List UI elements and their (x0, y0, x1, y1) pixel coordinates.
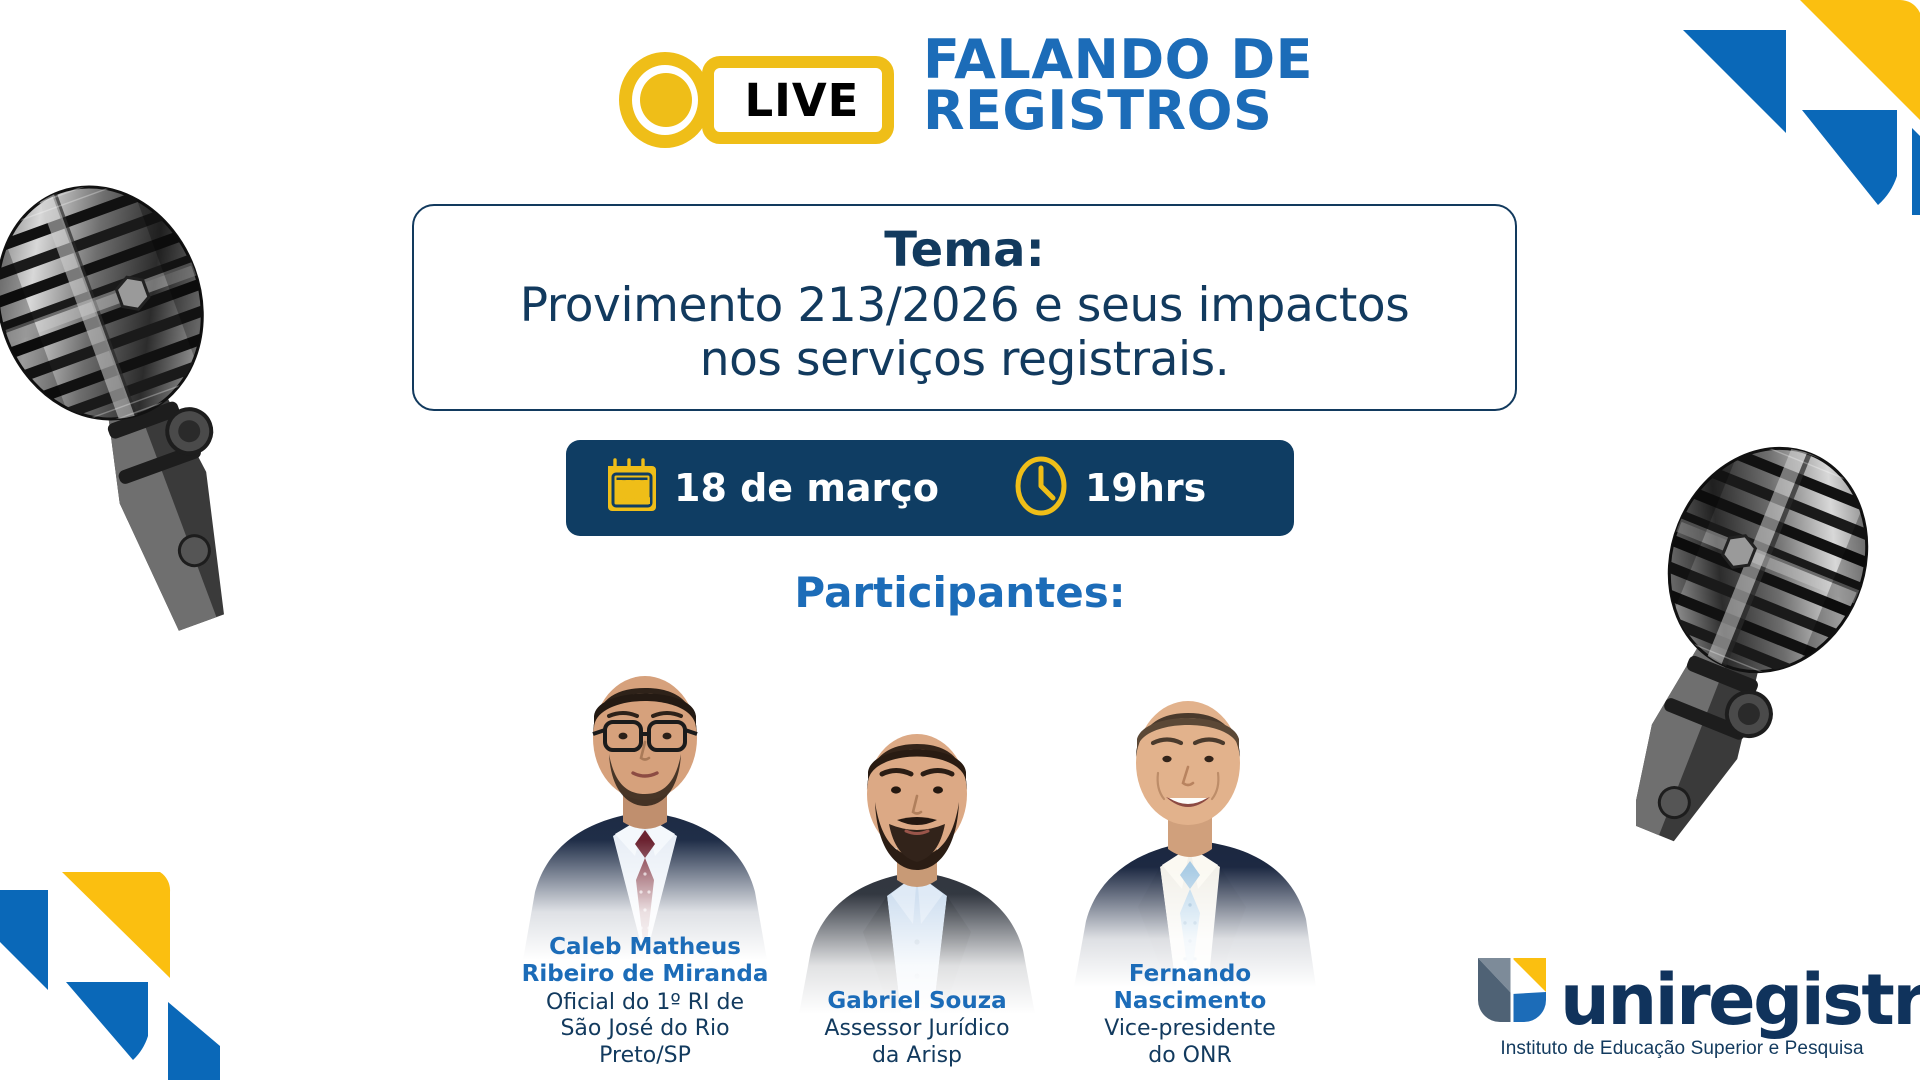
participants-list: Caleb Matheus Ribeiro de Miranda Oficial… (495, 615, 1365, 1070)
event-date-group: 18 de março (602, 457, 939, 520)
event-date-text: 18 de março (674, 466, 939, 510)
participant-role: Assessor Jurídico da Arisp (767, 1016, 1067, 1070)
datetime-bar: 18 de março 19hrs (566, 440, 1294, 536)
theme-description-line1: Provimento 213/2026 e seus impactos (520, 278, 1410, 333)
u-monogram-icon (1472, 954, 1558, 1033)
participant-card: Gabriel Souza Assessor Jurídico da Arisp (767, 684, 1067, 1070)
event-time-group: 19hrs (1013, 455, 1206, 522)
participant-photo (767, 684, 1067, 1014)
participant-info: Fernando Nascimento Vice-presidente do O… (1040, 961, 1340, 1070)
live-record-dot-icon (640, 73, 692, 127)
calendar-icon (602, 457, 658, 520)
event-time-text: 19hrs (1085, 466, 1206, 510)
theme-box: Tema: Provimento 213/2026 e seus impacto… (412, 204, 1517, 411)
participant-role: Oficial do 1º RI de São José do Rio Pret… (495, 990, 795, 1070)
participant-photo (495, 630, 795, 960)
theme-description-line2: nos serviços registrais. (444, 333, 1485, 387)
theme-description: Provimento 213/2026 e seus impactos nos … (444, 279, 1485, 387)
participant-info: Caleb Matheus Ribeiro de Miranda Oficial… (495, 934, 795, 1070)
microphone-illustration-right (1636, 420, 1920, 860)
participant-info: Gabriel Souza Assessor Jurídico da Arisp (767, 988, 1067, 1070)
participant-name: Caleb Matheus Ribeiro de Miranda (495, 934, 795, 988)
participant-role: Vice-presidente do ONR (1040, 1016, 1340, 1070)
clock-icon (1013, 455, 1069, 522)
participant-card: Caleb Matheus Ribeiro de Miranda Oficial… (495, 630, 795, 1070)
participant-name: Gabriel Souza (767, 988, 1067, 1015)
brand-name: uniregistral (1560, 967, 1920, 1034)
poster-header: LIVE FALANDO DE REGISTROS (0, 28, 1920, 154)
page-title-line2: REGISTROS (923, 85, 1313, 136)
theme-label: Tema: (444, 222, 1485, 279)
page-title: FALANDO DE REGISTROS (923, 28, 1313, 137)
live-badge: LIVE (607, 42, 897, 154)
brand-tagline: Instituto de Educação Superior e Pesquis… (1472, 1038, 1892, 1060)
participant-name: Fernando Nascimento (1040, 961, 1340, 1015)
poster-canvas: LIVE FALANDO DE REGISTROS Tema: Provimen… (0, 0, 1920, 1080)
brand-logo: uniregistral Instituto de Educação Super… (1472, 954, 1892, 1060)
participants-heading: Participantes: (0, 568, 1920, 617)
corner-decoration-bottom-left (0, 850, 270, 1080)
participant-card: Fernando Nascimento Vice-presidente do O… (1040, 657, 1340, 1070)
live-badge-label: LIVE (727, 78, 877, 123)
participant-photo (1040, 657, 1340, 987)
brand-logo-row: uniregistral (1472, 954, 1892, 1033)
